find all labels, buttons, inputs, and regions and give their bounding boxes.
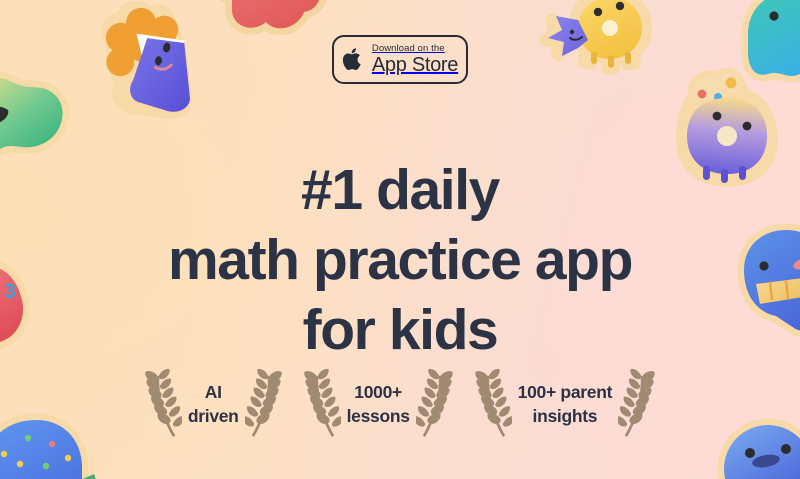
award-badge-label: AI driven (188, 380, 239, 428)
app-store-title: App Store (372, 55, 458, 75)
headline-line-1: #1 daily (0, 155, 800, 225)
award-badge-lessons: 1000+ lessons (301, 367, 456, 441)
award-badge-label: 1000+ lessons (347, 380, 410, 428)
yellow-donut-purple-star-sticker (536, 0, 676, 85)
apple-logo-icon (342, 46, 364, 72)
award-badge-ai-driven: AI driven (142, 367, 285, 441)
headline-line-3: for kids (0, 295, 800, 365)
laurel-wreath-icon (416, 367, 456, 441)
red-cloud-blob-sticker (206, 0, 336, 62)
laurel-wreath-icon (618, 367, 658, 441)
award-label-line-2: insights (518, 404, 612, 428)
award-label-line-2: driven (188, 404, 239, 428)
teal-ghost-sticker (742, 0, 800, 86)
award-badge-label: 100+ parent insights (518, 380, 612, 428)
award-label-line-1: 100+ parent (518, 380, 612, 404)
app-store-badge-text: Download on the App Store (372, 44, 458, 76)
award-badge-row: AI driven (0, 358, 800, 450)
app-store-subtitle: Download on the (372, 44, 458, 54)
headline-line-2: math practice app (0, 225, 800, 295)
app-store-download-button[interactable]: Download on the App Store (332, 35, 468, 84)
hero-banner: 3 (0, 0, 800, 479)
orange-purple-bird-sticker (85, 0, 215, 133)
laurel-wreath-icon (142, 367, 182, 441)
page-title: #1 daily math practice app for kids (0, 155, 800, 365)
laurel-wreath-icon (245, 367, 285, 441)
laurel-wreath-icon (301, 367, 341, 441)
laurel-wreath-icon (472, 367, 512, 441)
award-badge-parent-insights: 100+ parent insights (472, 367, 658, 441)
award-label-line-1: AI (188, 380, 239, 404)
award-label-line-2: lessons (347, 404, 410, 428)
award-label-line-1: 1000+ (347, 380, 410, 404)
